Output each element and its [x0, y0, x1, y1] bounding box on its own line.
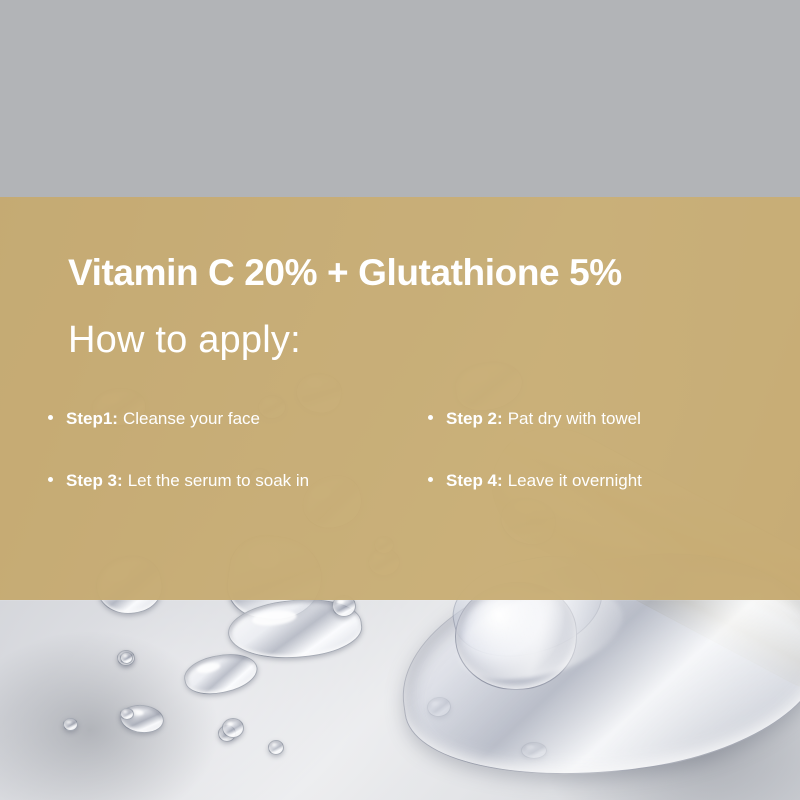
step-label: Step 3: [66, 471, 123, 491]
paper-shadow-bottom-left [0, 630, 220, 800]
bullet-dot-icon [428, 477, 433, 482]
step-text: Cleanse your face [123, 409, 260, 429]
skincare-instruction-poster: Vitamin C 20% + Glutathione 5% How to ap… [0, 0, 800, 800]
water-droplet [222, 718, 244, 738]
bullet-dot-icon [428, 415, 433, 420]
list-item: Step1: Cleanse your face [48, 409, 428, 429]
water-droplet [63, 718, 78, 731]
instruction-content: Vitamin C 20% + Glutathione 5% How to ap… [0, 197, 800, 600]
subtitle-how-to-apply: How to apply: [68, 319, 301, 362]
gold-band-bottom-edge [0, 600, 800, 601]
step-label: Step 4: [446, 471, 503, 491]
bullet-dot-icon [48, 477, 53, 482]
bullet-dot-icon [48, 415, 53, 420]
water-droplet [120, 708, 134, 720]
steps-list: Step1: Cleanse your face Step 2: Pat dry… [48, 409, 752, 533]
top-gray-band [0, 0, 800, 197]
step-label: Step1: [66, 409, 118, 429]
list-item: Step 2: Pat dry with towel [428, 409, 752, 429]
list-item: Step 4: Leave it overnight [428, 471, 752, 491]
page-title: Vitamin C 20% + Glutathione 5% [68, 252, 622, 294]
water-droplet [120, 652, 133, 664]
step-text: Pat dry with towel [508, 409, 641, 429]
water-droplet [268, 740, 284, 755]
list-item: Step 3: Let the serum to soak in [48, 471, 428, 491]
step-text: Leave it overnight [508, 471, 642, 491]
step-label: Step 2: [446, 409, 503, 429]
step-text: Let the serum to soak in [128, 471, 309, 491]
